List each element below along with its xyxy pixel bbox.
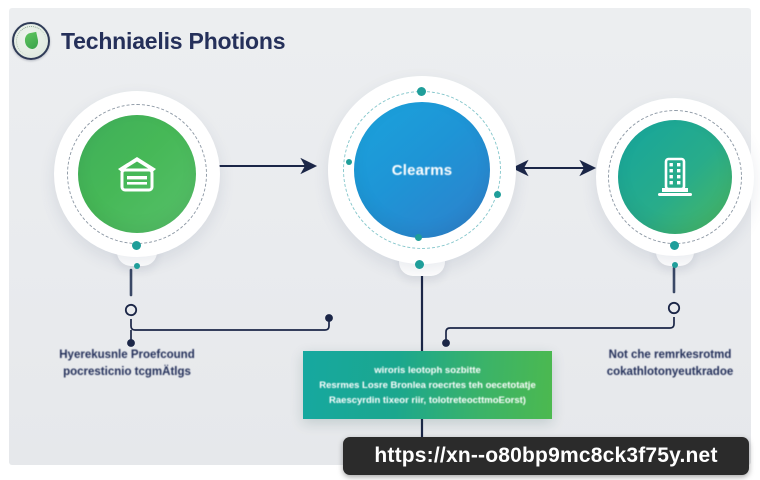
node-center-dot-bottom: [415, 234, 422, 241]
callout-line3: Raescyrdin tixeor riir, tolotreteocttmoE…: [329, 394, 526, 407]
callout-line1: wiroris leotoph sozbitte: [374, 364, 481, 377]
node-center-dot-right: [494, 191, 501, 198]
node-left-dot-bottom: [132, 241, 141, 250]
node-center-ring: Clearms: [328, 76, 516, 264]
building-tower-icon: [655, 155, 695, 199]
node-right-dot-pin: [672, 262, 678, 268]
label-left-line2: pocresticnio tcgmÄtlgs: [22, 364, 232, 381]
node-left-ring: [54, 91, 220, 257]
node-center-dot-top: [417, 87, 426, 96]
connector-right-branch: [446, 268, 679, 343]
node-right-ring: [596, 98, 754, 256]
label-right-line2: cokathlotonyeutkradoe: [580, 364, 760, 381]
node-left-disc: [78, 115, 196, 233]
label-left: Hyerekusnle Proefcound pocresticnio tcgm…: [22, 347, 232, 381]
node-center-dot-pin: [415, 260, 424, 269]
node-center[interactable]: Clearms: [328, 76, 516, 276]
node-left-dot-pin: [134, 263, 140, 269]
callout-line2: Resrmes Losre Bronlea roecrtes teh oecet…: [319, 379, 535, 392]
connector-left-branch: [126, 270, 329, 343]
house-bank-icon: [115, 154, 159, 194]
callout-box: wiroris leotoph sozbitte Resrmes Losre B…: [303, 351, 552, 419]
node-center-disc: Clearms: [354, 102, 490, 238]
node-right-disc: [618, 120, 732, 234]
node-left[interactable]: [54, 91, 220, 266]
label-right-line1: Not che remrkesrotmd: [580, 347, 760, 364]
node-right-dot-bottom: [670, 241, 679, 250]
node-right[interactable]: [596, 98, 754, 266]
diagram-canvas: Techniaelis Photions: [0, 0, 760, 480]
url-text: https://xn--o80bp9mc8ck3f75y.net: [374, 444, 717, 468]
node-center-dot-left: [346, 159, 352, 165]
label-right: Not che remrkesrotmd cokathlotonyeutkrad…: [580, 347, 760, 381]
url-watermark[interactable]: https://xn--o80bp9mc8ck3f75y.net: [343, 437, 749, 475]
label-left-line1: Hyerekusnle Proefcound: [22, 347, 232, 364]
node-center-label: Clearms: [392, 162, 453, 179]
